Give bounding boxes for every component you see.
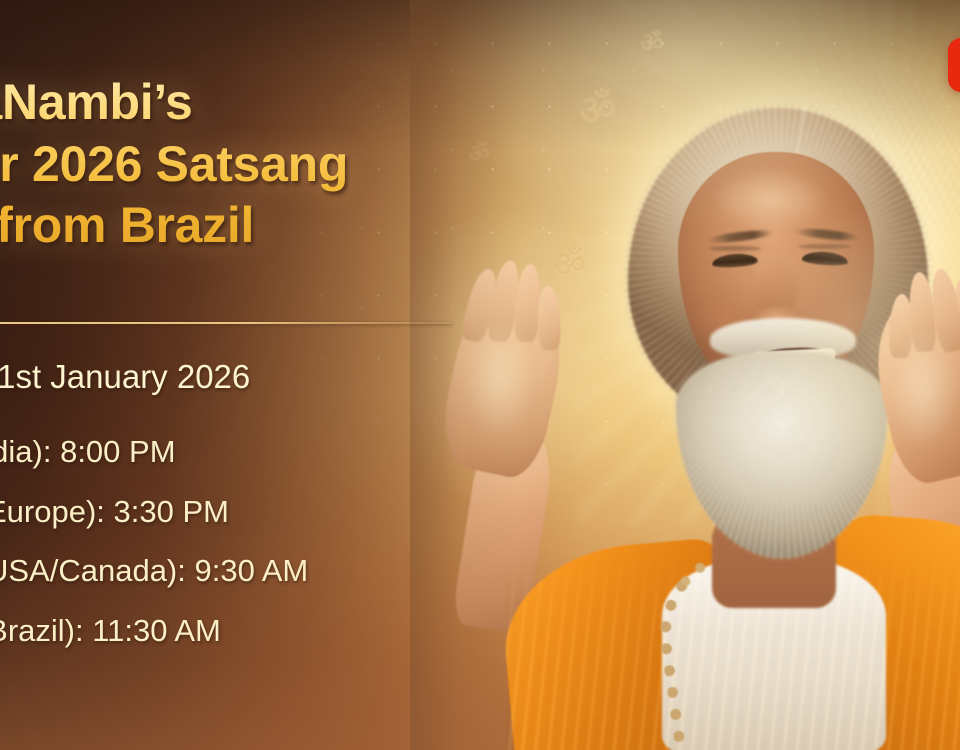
timezone-row-europe: ET (Europe): 3:30 PM: [0, 492, 628, 532]
youtube-badge-icon[interactable]: [948, 38, 960, 92]
headline-line-2: Year 2026 Satsang: [0, 134, 614, 196]
headline-line-1: tmaNambi’s: [0, 72, 614, 134]
timezone-row-brazil: RT (Brazil): 11:30 AM: [0, 611, 628, 651]
section-divider: [0, 322, 452, 324]
eyelid-crease-right: [799, 244, 851, 249]
timezone-list: T (India): 8:00 PM ET (Europe): 3:30 PM …: [0, 432, 628, 671]
text-content-block: tmaNambi’s Year 2026 Satsang ive from Br…: [0, 0, 620, 750]
right-palm-highlight: [888, 328, 958, 448]
forehead-highlight: [710, 168, 830, 232]
satsang-announcement-banner: ॐ ॐ ॐ ॐ ॐ ॐ: [0, 0, 960, 750]
eyelid-crease-left: [709, 246, 761, 251]
timezone-row-india: T (India): 8:00 PM: [0, 432, 628, 472]
timezone-row-usa-canada: ST (USA/Canada): 9:30 AM: [0, 551, 628, 591]
event-date: day, 1st January 2026: [0, 358, 250, 396]
page-title: tmaNambi’s Year 2026 Satsang ive from Br…: [0, 72, 614, 257]
headline-line-3: ive from Brazil: [0, 195, 614, 257]
